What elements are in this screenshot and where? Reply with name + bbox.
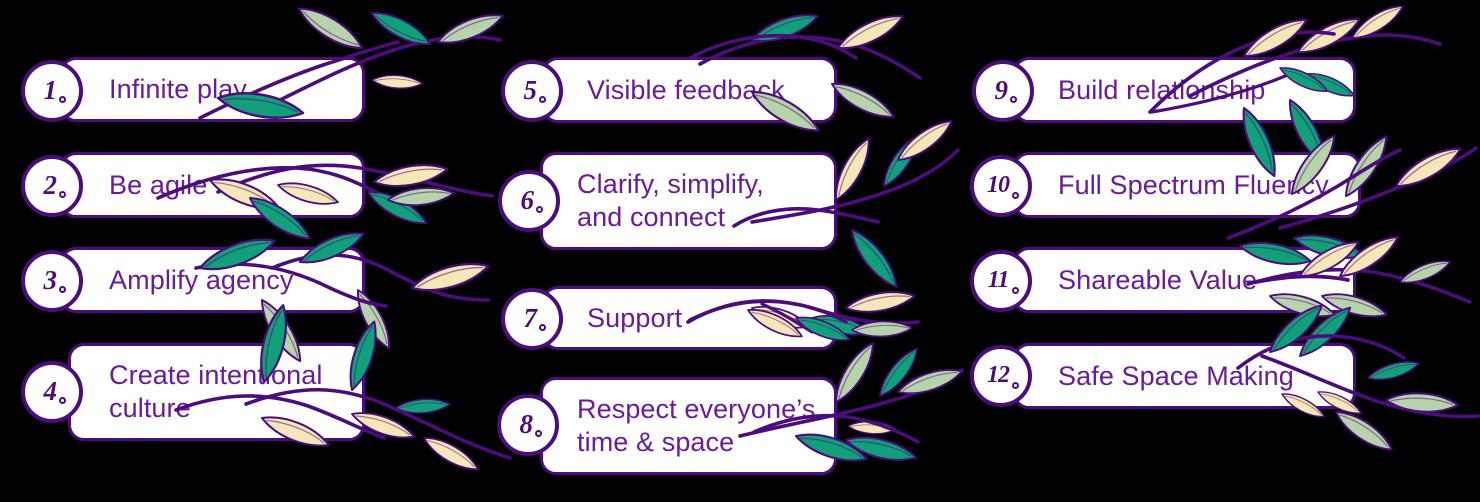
principle-card-10[interactable]: Full Spectrum Fluency (1013, 152, 1361, 218)
principle-label-6: Clarify, simplify, and connect (577, 168, 764, 234)
number-badge-8-value: 8 (520, 411, 533, 438)
number-badge-2-value: 2 (44, 172, 57, 199)
number-badge-9-value: 9 (995, 77, 1008, 104)
principle-card-3[interactable]: Amplify agency (60, 247, 365, 313)
principle-card-1[interactable]: Infinite play (60, 57, 365, 122)
principle-label-4: Create intentional culture (109, 359, 322, 425)
principle-card-2[interactable]: Be agile (60, 152, 365, 218)
badge-dot-icon (59, 96, 66, 103)
principle-label-5: Visible feedback (587, 74, 785, 107)
number-badge-3: 3 (21, 250, 83, 312)
badge-dot-icon (59, 286, 66, 293)
number-badge-11-value: 11 (988, 268, 1009, 292)
badge-dot-icon (535, 430, 542, 437)
principle-label-2: Be agile (109, 169, 207, 202)
badge-dot-icon (536, 206, 543, 213)
badge-dot-icon (1012, 287, 1019, 294)
number-badge-11: 11 (970, 250, 1032, 312)
number-badge-1-value: 1 (44, 77, 57, 104)
principle-card-4[interactable]: Create intentional culture (68, 343, 365, 441)
badge-dot-icon (1012, 192, 1019, 199)
principle-card-6[interactable]: Clarify, simplify, and connect (540, 152, 837, 250)
number-badge-7: 7 (501, 288, 563, 350)
principle-card-11[interactable]: Shareable Value (1013, 247, 1356, 313)
infographic-canvas: Infinite play 1 Be agile 2 Amplify agenc… (0, 0, 1480, 502)
principle-label-3: Amplify agency (109, 264, 293, 297)
badge-dot-icon (59, 397, 66, 404)
number-badge-6-value: 6 (521, 187, 534, 214)
principle-label-1: Infinite play (109, 73, 247, 106)
principle-card-12[interactable]: Safe Space Making (1013, 343, 1356, 409)
principle-card-8[interactable]: Respect everyone’s time & space (540, 377, 837, 475)
principle-label-7: Support (587, 302, 682, 335)
principle-card-7[interactable]: Support (542, 286, 837, 350)
principle-label-12: Safe Space Making (1058, 360, 1294, 393)
number-badge-4-value: 4 (44, 378, 57, 405)
principle-label-10: Full Spectrum Fluency (1058, 169, 1329, 202)
number-badge-1: 1 (21, 60, 83, 122)
badge-dot-icon (539, 324, 546, 331)
number-badge-12: 12 (970, 345, 1032, 407)
number-badge-10-value: 10 (987, 173, 1009, 197)
principle-label-9: Build relationship (1058, 74, 1265, 107)
badge-dot-icon (59, 191, 66, 198)
number-badge-5: 5 (501, 60, 563, 122)
number-badge-7-value: 7 (524, 305, 537, 332)
number-badge-5-value: 5 (524, 77, 537, 104)
number-badge-4: 4 (21, 361, 83, 423)
number-badge-9: 9 (972, 60, 1034, 122)
number-badge-12-value: 12 (987, 363, 1009, 387)
principle-label-11: Shareable Value (1058, 264, 1257, 297)
principle-card-9[interactable]: Build relationship (1013, 57, 1356, 123)
number-badge-2: 2 (21, 155, 83, 217)
number-badge-10: 10 (970, 155, 1032, 217)
badge-dot-icon (539, 96, 546, 103)
badge-dot-icon (1010, 96, 1017, 103)
badge-dot-icon (1012, 382, 1019, 389)
number-badge-6: 6 (498, 170, 560, 232)
number-badge-8: 8 (497, 394, 559, 456)
principle-card-5[interactable]: Visible feedback (542, 57, 837, 123)
number-badge-3-value: 3 (44, 267, 57, 294)
principle-label-8: Respect everyone’s time & space (577, 393, 815, 459)
